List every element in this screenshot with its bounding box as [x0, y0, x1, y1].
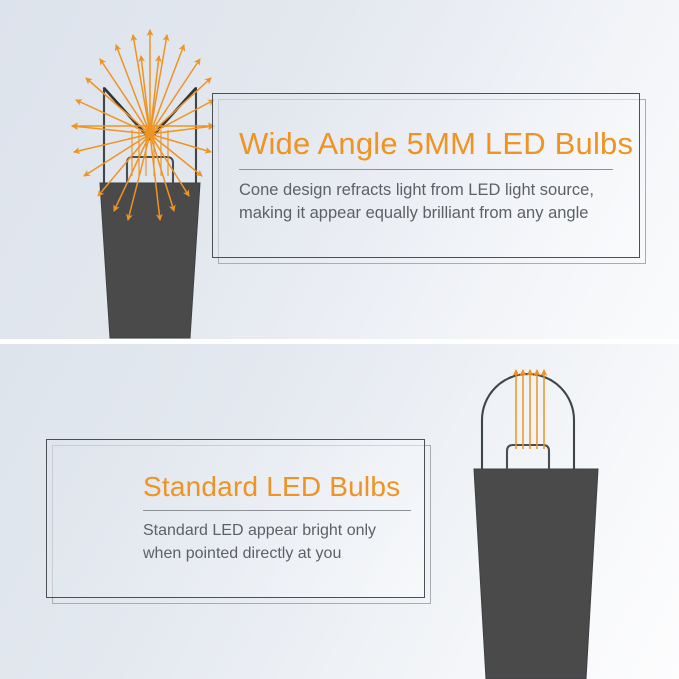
bulb-dome-outline [482, 374, 574, 469]
standard-text-card: Standard LED Bulbs Standard LED appear b… [46, 439, 425, 598]
wide-angle-card-title: Wide Angle 5MM LED Bulbs [239, 126, 613, 162]
card-frame: Standard LED Bulbs Standard LED appear b… [46, 439, 425, 598]
wide-angle-panel: Wide Angle 5MM LED Bulbs Cone design ref… [0, 0, 679, 339]
card-divider-rule [239, 169, 613, 170]
wide-angle-card-body: Cone design refracts light from LED ligh… [239, 179, 613, 226]
led-chip-lead [507, 445, 549, 469]
wide-angle-led-bulb-illustration [14, 26, 214, 339]
standard-panel: Standard LED Bulbs Standard LED appear b… [0, 344, 679, 679]
standard-card-body: Standard LED appear bright only when poi… [143, 520, 376, 565]
standard-led-bulb-illustration [466, 358, 666, 679]
standard-card-title: Standard LED Bulbs [143, 471, 400, 503]
bulb-base [100, 183, 200, 338]
light-rays-parallel [516, 370, 544, 449]
wide-angle-text-card: Wide Angle 5MM LED Bulbs Cone design ref… [212, 93, 640, 258]
card-divider-rule [143, 510, 411, 511]
bulb-base [474, 469, 598, 679]
card-frame: Wide Angle 5MM LED Bulbs Cone design ref… [212, 93, 640, 258]
infographic-root: Wide Angle 5MM LED Bulbs Cone design ref… [0, 0, 679, 679]
